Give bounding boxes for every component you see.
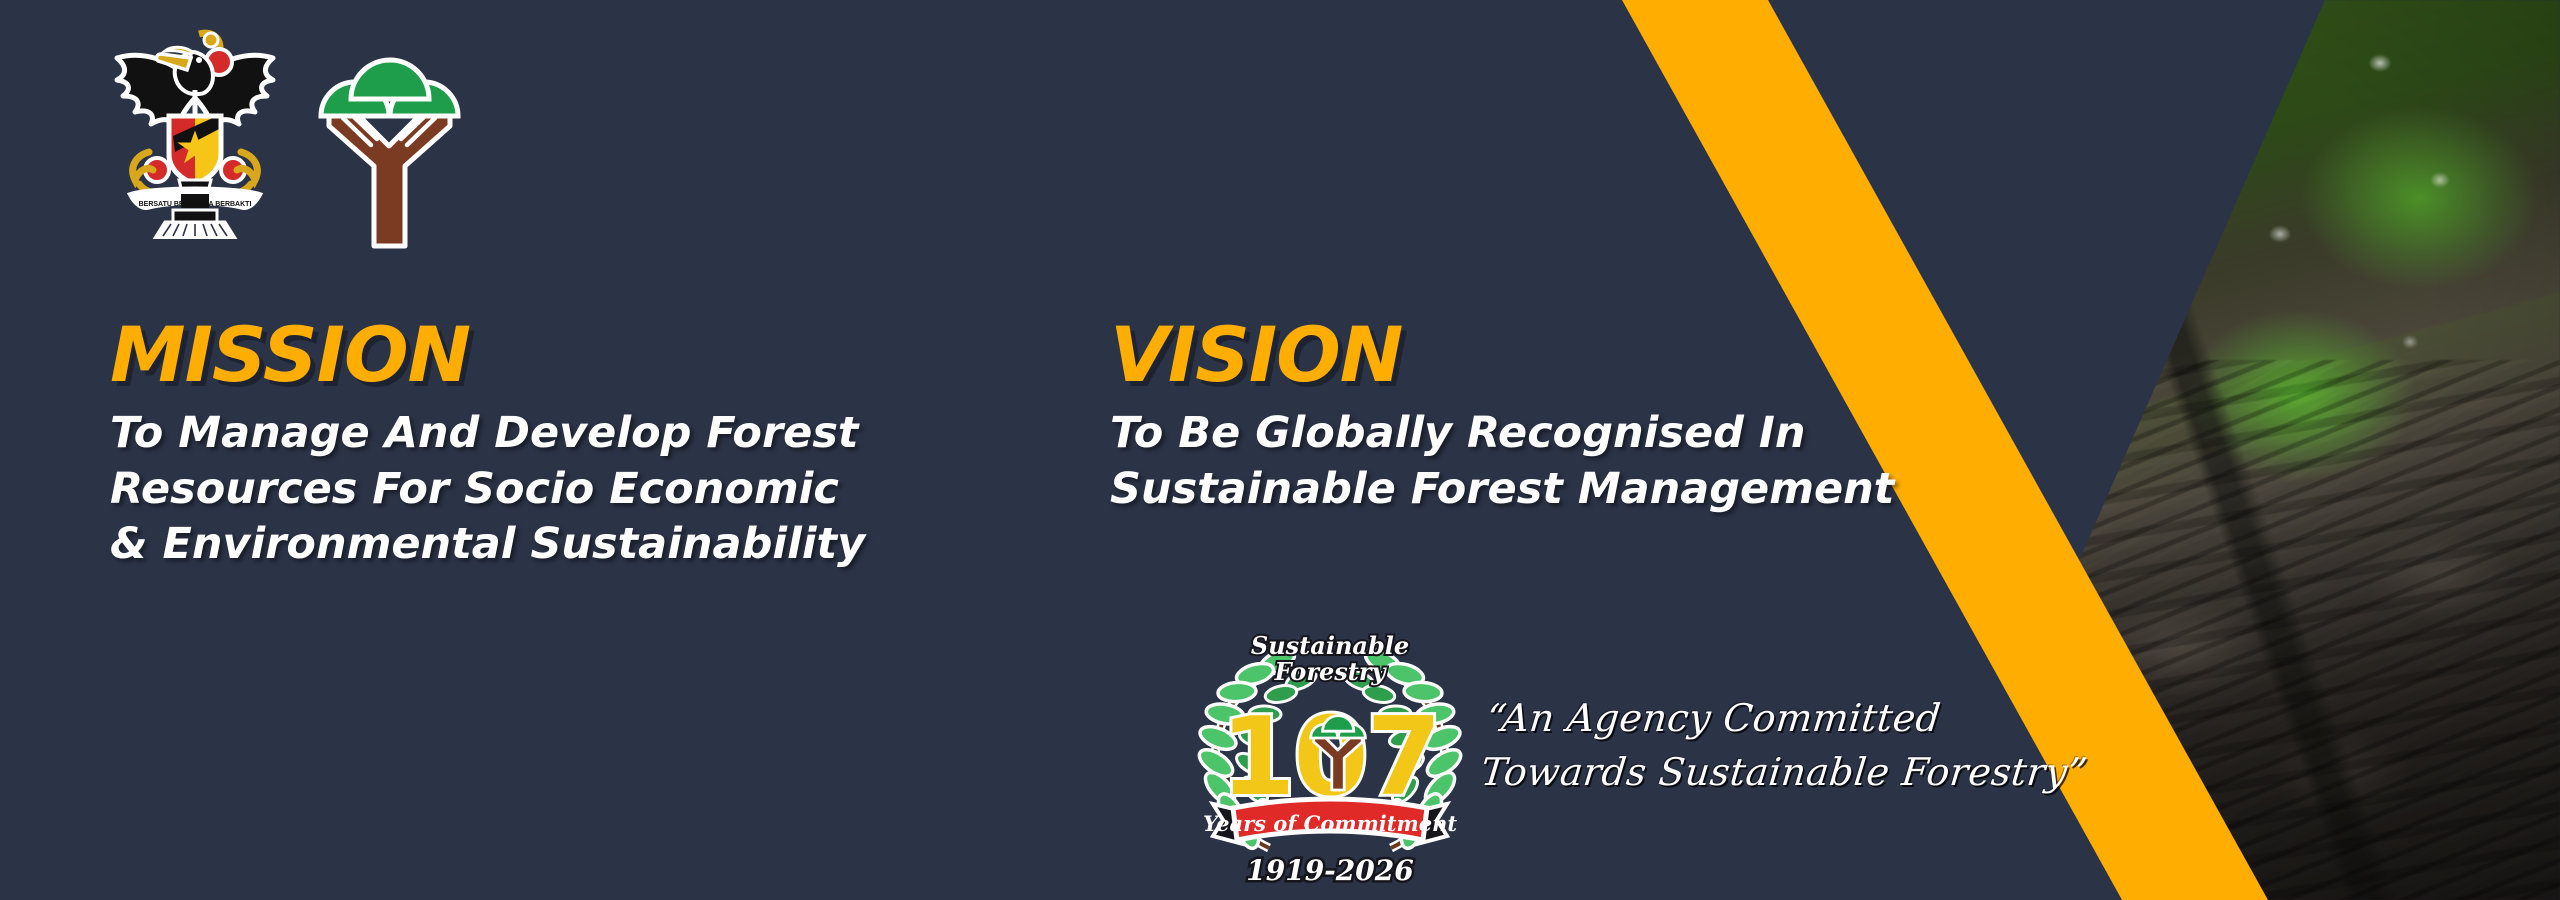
vision-column: VISION To Be Globally Recognised In Sust… [1110,318,1810,517]
emblem-years: 1919-2026 [1246,854,1413,887]
tagline-text-2: Towards Sustainable Forestry [1479,750,2070,794]
emblem-top-text-line1: Sustainable [1251,631,1409,660]
emblem-top-text-line2: Forestry [1274,657,1388,686]
banner-root: BERSATU BERUSAHA BERBAKTI [0,0,2560,900]
mission-statement: To Manage And Develop Forest Resources F… [110,406,670,571]
mission-line-1: To Manage And Develop Forest [110,406,670,461]
close-quote: ” [2065,750,2089,794]
vision-line-1: To Be Globally Recognised In [1110,406,1810,461]
emblem-ribbon-text: Years of Commitment [1203,811,1457,836]
agency-tagline: “An Agency Committed Towards Sustainable… [1478,692,2129,800]
logo-row: BERSATU BERUSAHA BERBAKTI [95,24,462,251]
anniversary-emblem-icon: Sustainable Forestry 107 Years of Commit… [1185,618,1475,900]
tagline-line-1: “An Agency Committed [1484,692,2130,746]
tagline-line-2: Towards Sustainable Forestry” [1478,746,2124,800]
coat-of-arms-motto: BERSATU BERUSAHA BERBAKTI [139,201,252,208]
vision-heading: VISION [1110,318,1810,392]
anniversary-emblem: Sustainable Forestry 107 Years of Commit… [1185,618,1475,900]
mission-heading: MISSION [110,318,670,392]
mission-column: MISSION To Manage And Develop Forest Res… [110,318,670,572]
mission-line-3: & Environmental Sustainability [110,517,670,572]
vision-line-2: Sustainable Forest Management [1110,462,1810,517]
tagline-text-1: An Agency Committed [1500,696,1943,740]
mission-line-2: Resources For Socio Economic [110,462,670,517]
vision-statement: To Be Globally Recognised In Sustainable… [1110,406,1810,516]
sarawak-coat-of-arms-icon: BERSATU BERUSAHA BERBAKTI [95,24,295,239]
forest-department-tree-logo-icon [317,46,462,251]
content-layer: BERSATU BERUSAHA BERBAKTI [0,0,2560,900]
